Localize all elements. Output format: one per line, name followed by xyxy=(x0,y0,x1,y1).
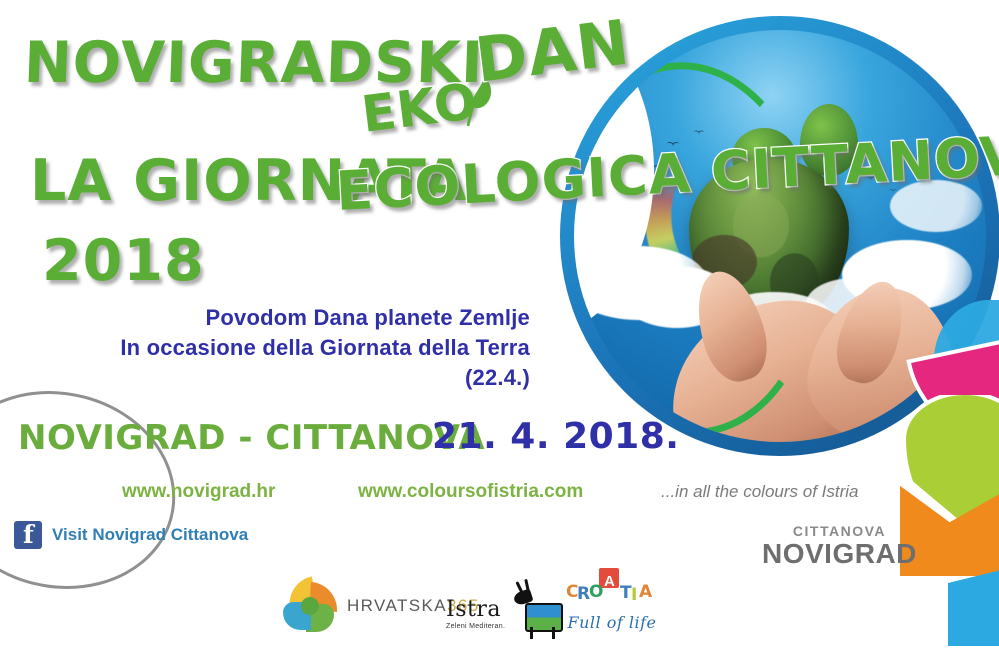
link-novigrad-hr[interactable]: www.novigrad.hr xyxy=(122,481,275,503)
link-coloursofistria[interactable]: www.coloursofistria.com xyxy=(358,481,583,503)
istria-tagline: ...in all the colours of Istria xyxy=(661,482,858,502)
subtitle-line-it: In occasione della Giornata della Terra xyxy=(50,333,530,363)
logo-istra: Istra Zeleni Mediteran. xyxy=(446,583,566,639)
facebook-link[interactable]: Visit Novigrad Cittanova xyxy=(14,521,248,549)
croatia-letter: I xyxy=(631,585,637,605)
facebook-label: Visit Novigrad Cittanova xyxy=(52,525,248,545)
facebook-icon[interactable] xyxy=(14,521,42,549)
event-city: NOVIGRAD - CITTANOVA xyxy=(18,418,485,458)
hrvatska-name: HRVATSKA xyxy=(347,596,447,615)
wordmark-cittanova: CITTANOVA xyxy=(762,524,917,539)
pinwheel-icon xyxy=(282,578,338,634)
croatia-letter: T xyxy=(620,583,632,603)
goat-icon xyxy=(512,583,566,639)
logo-croatia-full-of-life: C R O A T I A Full of life xyxy=(566,580,658,632)
novigrad-wordmark: CITTANOVA NOVIGRAD xyxy=(762,524,917,569)
poster-canvas: NOVIGRADSKI EKO DAN LA GIORNATA ECOLOGIC… xyxy=(0,0,999,666)
croatia-letter: A xyxy=(639,582,652,602)
croatia-letter: O xyxy=(589,582,603,602)
croatia-tagline: Full of life xyxy=(568,613,657,632)
istra-subtitle: Zeleni Mediteran. xyxy=(446,623,505,630)
headline-year: 2018 xyxy=(42,228,205,294)
subtitle-date-note: (22.4.) xyxy=(50,363,530,393)
croatia-letter: A xyxy=(604,573,615,590)
event-date: 21. 4. 2018. xyxy=(432,416,679,457)
wordmark-novigrad: NOVIGRAD xyxy=(762,539,917,569)
istra-label: Istra Zeleni Mediteran. xyxy=(446,583,505,630)
istra-name: Istra xyxy=(446,599,505,621)
subtitle-line-hr: Povodom Dana planete Zemlje xyxy=(110,303,530,333)
croatia-mark: C R O A T I A xyxy=(566,580,658,610)
